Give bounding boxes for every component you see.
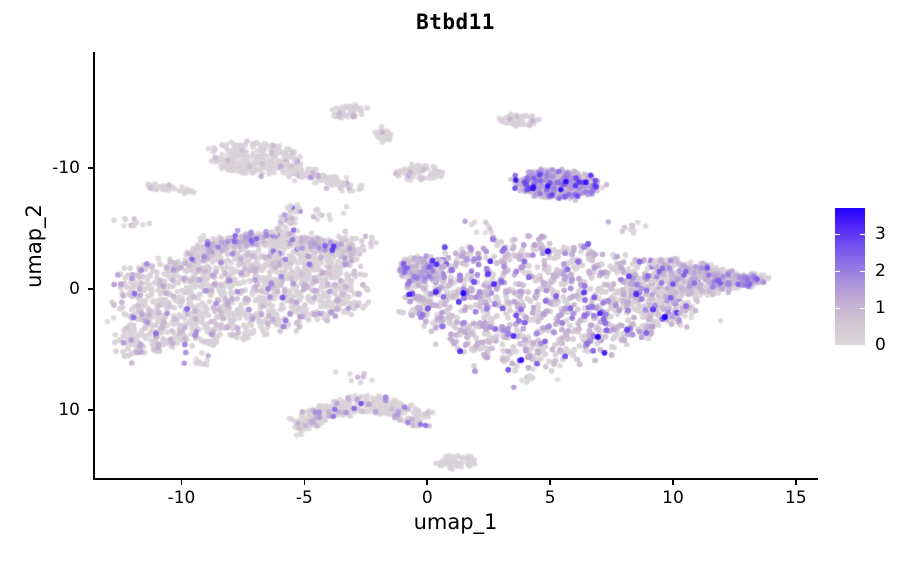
x-axis-spine xyxy=(93,478,818,480)
colorbar-tick-label: 2 xyxy=(875,261,886,281)
scatter-plot-canvas xyxy=(93,52,818,480)
colorbar-tick-mark xyxy=(835,271,840,272)
colorbar-tick-mark xyxy=(860,234,865,235)
x-tick-label: -10 xyxy=(168,488,196,508)
x-tick-mark xyxy=(795,480,797,485)
expression-colorbar: 3210 xyxy=(835,208,865,345)
x-tick-mark xyxy=(304,480,306,485)
x-tick-label: 10 xyxy=(662,488,684,508)
colorbar-gradient xyxy=(835,208,865,345)
colorbar-tick-mark xyxy=(835,234,840,235)
y-axis-spine xyxy=(93,52,95,480)
colorbar-tick-label: 3 xyxy=(875,224,886,244)
x-tick-mark xyxy=(181,480,183,485)
colorbar-tick-mark xyxy=(860,271,865,272)
x-tick-mark xyxy=(426,480,428,485)
colorbar-tick-mark xyxy=(835,308,840,309)
x-tick-label: 5 xyxy=(545,488,556,508)
x-axis-label: umap_1 xyxy=(93,510,818,534)
y-tick-mark xyxy=(88,288,93,290)
x-tick-mark xyxy=(672,480,674,485)
colorbar-tick-label: 0 xyxy=(875,335,886,355)
page-title: Btbd11 xyxy=(93,10,818,34)
x-tick-label: 0 xyxy=(422,488,433,508)
plot-axes: -10-5051015 100-10 xyxy=(93,52,818,480)
y-tick-label: -10 xyxy=(52,158,80,178)
y-tick-mark xyxy=(88,409,93,411)
colorbar-tick-mark xyxy=(860,308,865,309)
y-axis-label: umap_2 xyxy=(22,136,46,356)
y-tick-mark xyxy=(88,167,93,169)
y-tick-label: 10 xyxy=(58,400,80,420)
umap-feature-plot-figure: Btbd11 -10-5051015 100-10 umap_1 umap_2 … xyxy=(0,0,911,562)
colorbar-tick-label: 1 xyxy=(875,298,886,318)
x-tick-mark xyxy=(549,480,551,485)
x-tick-label: 15 xyxy=(785,488,807,508)
x-tick-label: -5 xyxy=(296,488,313,508)
y-tick-label: 0 xyxy=(69,279,80,299)
